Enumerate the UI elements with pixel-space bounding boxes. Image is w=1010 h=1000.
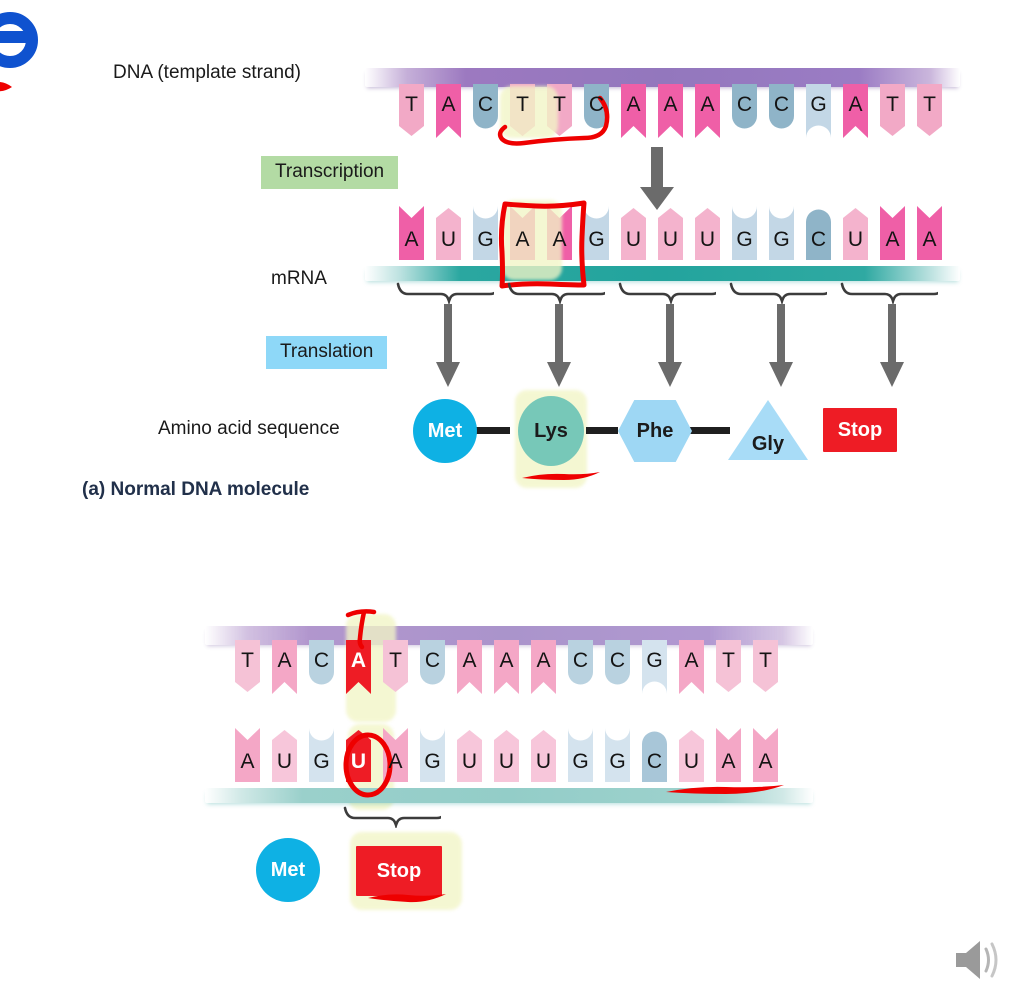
dna-base-b-5: C bbox=[419, 640, 446, 694]
dna-base-label: C bbox=[774, 94, 789, 115]
dna-base-a-6: A bbox=[620, 84, 647, 138]
mrna-base-a-6: U bbox=[620, 206, 647, 260]
dna-base-a-1: A bbox=[435, 84, 462, 138]
dna-base-b-7: A bbox=[493, 640, 520, 694]
mrna-base-b-12: U bbox=[678, 728, 705, 782]
mrna-base-label: C bbox=[647, 751, 662, 772]
dna-base-label: C bbox=[425, 650, 440, 671]
translation-arrow-0 bbox=[436, 304, 460, 388]
mrna-base-label: U bbox=[700, 229, 715, 250]
caption-normal-dna: (a) Normal DNA molecule bbox=[82, 479, 309, 501]
mrna-base-label: G bbox=[424, 751, 440, 772]
mrna-base-label: U bbox=[536, 751, 551, 772]
mrna-base-a-10: G bbox=[768, 206, 795, 260]
mrna-base-label: G bbox=[588, 229, 604, 250]
dna-base-b-14: T bbox=[752, 640, 779, 694]
dna-base-label: A bbox=[462, 650, 476, 671]
amino-acid-sequence-label: Amino acid sequence bbox=[158, 418, 340, 440]
mrna-base-label: G bbox=[773, 229, 789, 250]
dna-base-a-7: A bbox=[657, 84, 684, 138]
mrna-strand-b: A U G U A G U U U G G C bbox=[232, 728, 812, 788]
mrna-base-label: U bbox=[663, 229, 678, 250]
mrna-base-b-11: C bbox=[641, 728, 668, 782]
mrna-base-a-14: A bbox=[916, 206, 943, 260]
codon-bracket-b-0 bbox=[343, 806, 441, 828]
peptide-bond-0 bbox=[474, 427, 510, 434]
dna-base-label: A bbox=[499, 650, 513, 671]
dna-base-label: C bbox=[573, 650, 588, 671]
codon-bracket-a-4 bbox=[840, 282, 938, 304]
mrna-base-label: A bbox=[885, 229, 899, 250]
dna-base-b-1: A bbox=[271, 640, 298, 694]
dna-base-label: C bbox=[478, 94, 493, 115]
mrna-base-b-14: A bbox=[752, 728, 779, 782]
mrna-base-label: U bbox=[441, 229, 456, 250]
amino-acid-stop-b: Stop bbox=[356, 846, 442, 896]
mrna-label: mRNA bbox=[271, 268, 327, 290]
dna-base-label: A bbox=[663, 94, 677, 115]
mrna-base-b-2: G bbox=[308, 728, 335, 782]
mrna-base-a-2: G bbox=[472, 206, 499, 260]
mrna-base-a-11: C bbox=[805, 206, 832, 260]
highlight-ttc bbox=[500, 86, 558, 138]
mrna-base-b-4: A bbox=[382, 728, 409, 782]
transcription-box: Transcription bbox=[261, 156, 398, 189]
transcription-arrow bbox=[640, 147, 674, 211]
dna-base-b-3-mutation: A bbox=[345, 640, 372, 694]
amino-acid-phe-a: Phe bbox=[618, 400, 692, 462]
dna-base-b-11: G bbox=[641, 640, 668, 694]
dna-base-a-8: A bbox=[694, 84, 721, 138]
mrna-base-label: G bbox=[313, 751, 329, 772]
amino-acid-met-a: Met bbox=[413, 399, 477, 463]
dna-base-label: T bbox=[405, 94, 418, 115]
translation-arrow-1 bbox=[547, 304, 571, 388]
dna-base-label: T bbox=[516, 94, 529, 115]
dna-base-label: C bbox=[314, 650, 329, 671]
mrna-base-a-9: G bbox=[731, 206, 758, 260]
dna-base-label: A bbox=[351, 650, 366, 671]
mrna-base-b-0: A bbox=[234, 728, 261, 782]
dna-strand-b: T A C A T C A A A C C G bbox=[232, 640, 812, 700]
peptide-bond-2 bbox=[690, 427, 730, 434]
dna-template-label: DNA (template strand) bbox=[113, 62, 301, 84]
dna-base-label: T bbox=[759, 650, 772, 671]
audio-speaker-icon[interactable] bbox=[952, 935, 1004, 990]
codon-bracket-a-0 bbox=[396, 282, 494, 304]
mrna-base-a-8: U bbox=[694, 206, 721, 260]
dna-base-a-9: C bbox=[731, 84, 758, 138]
mrna-base-a-12: U bbox=[842, 206, 869, 260]
dna-base-label: A bbox=[441, 94, 455, 115]
dna-base-label: A bbox=[277, 650, 291, 671]
slide-logo-fragment bbox=[0, 0, 40, 120]
amino-acid-label: Lys bbox=[534, 420, 568, 443]
mrna-base-label: U bbox=[684, 751, 699, 772]
mrna-base-label: A bbox=[240, 751, 254, 772]
mrna-base-a-13: A bbox=[879, 206, 906, 260]
mrna-base-label: U bbox=[848, 229, 863, 250]
mrna-base-label: U bbox=[499, 751, 514, 772]
mrna-base-b-7: U bbox=[493, 728, 520, 782]
mrna-base-b-3-mutation: U bbox=[345, 728, 372, 782]
codon-bracket-a-1 bbox=[507, 282, 605, 304]
mrna-base-label: G bbox=[572, 751, 588, 772]
mrna-base-label: G bbox=[477, 229, 493, 250]
mrna-base-b-13: A bbox=[715, 728, 742, 782]
translation-box: Translation bbox=[266, 336, 387, 369]
amino-acid-gly-a: Gly bbox=[728, 400, 808, 460]
dna-base-b-10: C bbox=[604, 640, 631, 694]
dna-base-label: T bbox=[389, 650, 402, 671]
mrna-base-label: G bbox=[736, 229, 752, 250]
mrna-base-b-10: G bbox=[604, 728, 631, 782]
dna-base-a-12: A bbox=[842, 84, 869, 138]
mrna-base-label: A bbox=[388, 751, 402, 772]
dna-base-label: A bbox=[848, 94, 862, 115]
dna-base-label: A bbox=[536, 650, 550, 671]
dna-base-label: T bbox=[722, 650, 735, 671]
mrna-base-label: A bbox=[404, 229, 418, 250]
mrna-base-a-7: U bbox=[657, 206, 684, 260]
amino-acid-label: Gly bbox=[752, 433, 784, 456]
dna-base-label: G bbox=[810, 94, 826, 115]
mrna-backbone-a bbox=[365, 266, 960, 281]
dna-base-a-13: T bbox=[879, 84, 906, 138]
mrna-base-b-9: G bbox=[567, 728, 594, 782]
dna-base-a-11: G bbox=[805, 84, 832, 138]
mrna-base-a-5: G bbox=[583, 206, 610, 260]
translation-arrow-3 bbox=[769, 304, 793, 388]
mrna-base-label: A bbox=[922, 229, 936, 250]
mrna-base-label: A bbox=[721, 751, 735, 772]
translation-arrow-2 bbox=[658, 304, 682, 388]
dna-base-label: A bbox=[700, 94, 714, 115]
dna-strand-a: T A C T T C A A A C C G bbox=[390, 84, 970, 144]
dna-base-a-5: C bbox=[583, 84, 610, 138]
mrna-base-label: U bbox=[462, 751, 477, 772]
dna-base-label: T bbox=[886, 94, 899, 115]
amino-acid-label: Phe bbox=[637, 420, 674, 443]
dna-base-a-10: C bbox=[768, 84, 795, 138]
mrna-strand-a: A U G A A G U U U G G C bbox=[390, 206, 970, 266]
dna-base-a-0: T bbox=[398, 84, 425, 138]
dna-base-b-12: A bbox=[678, 640, 705, 694]
translation-arrow-4 bbox=[880, 304, 904, 388]
mrna-base-label: U bbox=[626, 229, 641, 250]
dna-base-label: C bbox=[737, 94, 752, 115]
dna-base-b-13: T bbox=[715, 640, 742, 694]
amino-acid-label: Met bbox=[428, 420, 462, 443]
mrna-base-label: U bbox=[277, 751, 292, 772]
dna-base-label: C bbox=[610, 650, 625, 671]
dna-base-label: A bbox=[626, 94, 640, 115]
peptide-bond-1 bbox=[586, 427, 618, 434]
amino-acid-met-b: Met bbox=[256, 838, 320, 902]
mrna-base-b-8: U bbox=[530, 728, 557, 782]
mrna-base-b-1: U bbox=[271, 728, 298, 782]
amino-acid-stop-a: Stop bbox=[823, 408, 897, 452]
mrna-base-b-5: G bbox=[419, 728, 446, 782]
dna-base-a-2: C bbox=[472, 84, 499, 138]
dna-base-label: G bbox=[646, 650, 662, 671]
mrna-base-a-0: A bbox=[398, 206, 425, 260]
mrna-base-label: U bbox=[351, 751, 366, 772]
amino-acid-label: Met bbox=[271, 859, 305, 882]
mrna-backbone-b bbox=[205, 788, 813, 803]
dna-base-b-0: T bbox=[234, 640, 261, 694]
mrna-base-label: A bbox=[552, 229, 566, 250]
amino-acid-label: Stop bbox=[838, 419, 882, 442]
mrna-base-label: A bbox=[515, 229, 529, 250]
amino-acid-label: Stop bbox=[377, 860, 421, 883]
dna-base-label: T bbox=[923, 94, 936, 115]
dna-base-a-14: T bbox=[916, 84, 943, 138]
mrna-base-a-1: U bbox=[435, 206, 462, 260]
mrna-base-label: C bbox=[811, 229, 826, 250]
dna-base-label: T bbox=[553, 94, 566, 115]
codon-bracket-a-3 bbox=[729, 282, 827, 304]
mrna-base-label: G bbox=[609, 751, 625, 772]
mrna-base-label: A bbox=[758, 751, 772, 772]
codon-bracket-a-2 bbox=[618, 282, 716, 304]
dna-base-b-9: C bbox=[567, 640, 594, 694]
dna-base-b-6: A bbox=[456, 640, 483, 694]
dna-base-label: T bbox=[241, 650, 254, 671]
mrna-base-b-6: U bbox=[456, 728, 483, 782]
dna-base-b-8: A bbox=[530, 640, 557, 694]
dna-base-b-2: C bbox=[308, 640, 335, 694]
dna-base-label: C bbox=[589, 94, 604, 115]
dna-base-label: A bbox=[684, 650, 698, 671]
amino-acid-lys-a: Lys bbox=[518, 396, 584, 466]
dna-base-b-4: T bbox=[382, 640, 409, 694]
